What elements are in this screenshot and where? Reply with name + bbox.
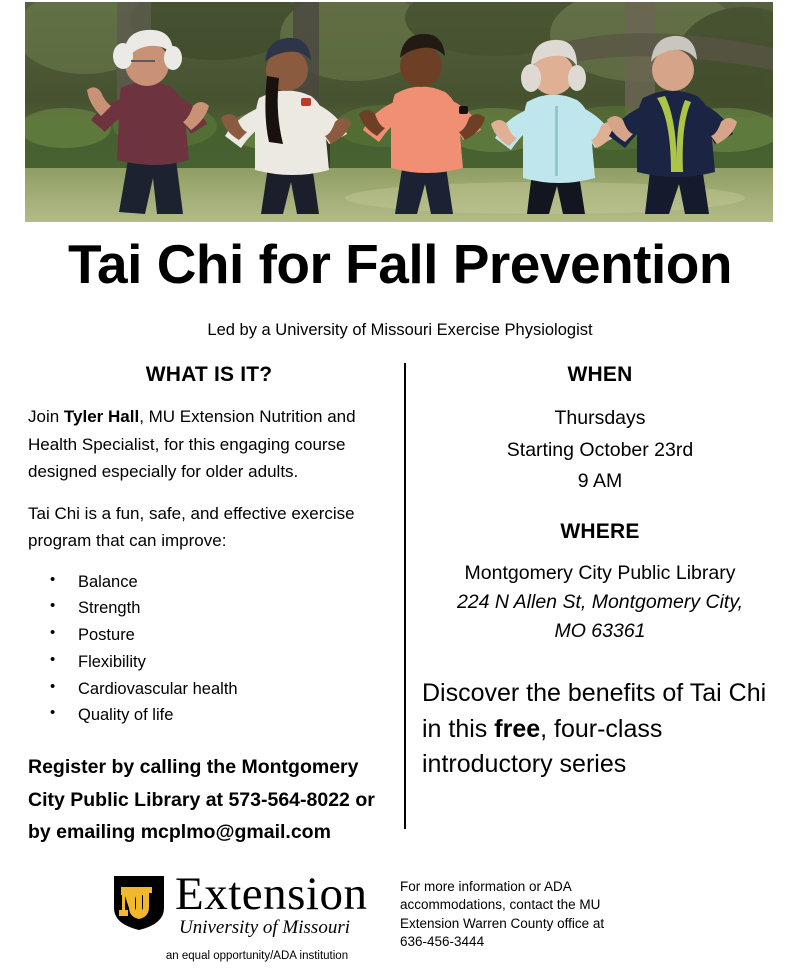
flyer-title: Tai Chi for Fall Prevention [0,236,800,294]
where-address-line-2: MO 63361 [416,617,784,646]
list-item: Posture [50,622,390,649]
list-item: Quality of life [50,702,390,729]
flyer-subtitle: Led by a University of Missouri Exercise… [0,321,800,341]
list-item: Flexibility [50,649,390,676]
right-column: WHEN Thursdays Starting October 23rd 9 A… [416,363,784,783]
ada-contact-text: For more information or ADA accommodatio… [400,878,630,951]
discover-free-emphasis: free [494,715,540,743]
logo-university-text: University of Missouri [175,918,367,939]
where-address-line-1: 224 N Allen St, Montgomery City, [416,588,784,617]
column-divider [404,363,406,829]
list-item: Strength [50,595,390,622]
instructor-name: Tyler Hall [64,407,139,426]
registration-instructions: Register by calling the Montgomery City … [28,751,390,849]
intro-pre: Join [28,407,64,426]
hero-photo-illustration [25,2,773,222]
when-heading: WHEN [416,363,784,387]
discover-blurb: Discover the benefits of Tai Chi in this… [416,676,784,783]
where-venue: Montgomery City Public Library [416,558,784,588]
logo-extension-text: Extension [175,871,367,917]
when-time: 9 AM [416,466,784,498]
benefits-list: Balance Strength Posture Flexibility Car… [28,569,390,729]
intro-paragraph: Join Tyler Hall, MU Extension Nutrition … [28,403,390,486]
hero-photo [25,2,773,222]
left-column: WHAT IS IT? Join Tyler Hall, MU Extensio… [28,363,390,849]
when-day: Thursdays [416,403,784,435]
mu-extension-logo: Extension University of Missouri [112,874,367,939]
what-is-it-heading: WHAT IS IT? [28,363,390,387]
list-item: Cardiovascular health [50,676,390,703]
footer: Extension University of Missouri an equa… [0,866,800,968]
when-start-date: Starting October 23rd [416,435,784,467]
mu-shield-icon [112,874,166,932]
benefits-lead-paragraph: Tai Chi is a fun, safe, and effective ex… [28,500,390,555]
equal-opportunity-statement: an equal opportunity/ADA institution [112,950,402,962]
logo-wordmark: Extension University of Missouri [175,871,367,939]
list-item: Balance [50,569,390,596]
where-heading: WHERE [416,520,784,544]
